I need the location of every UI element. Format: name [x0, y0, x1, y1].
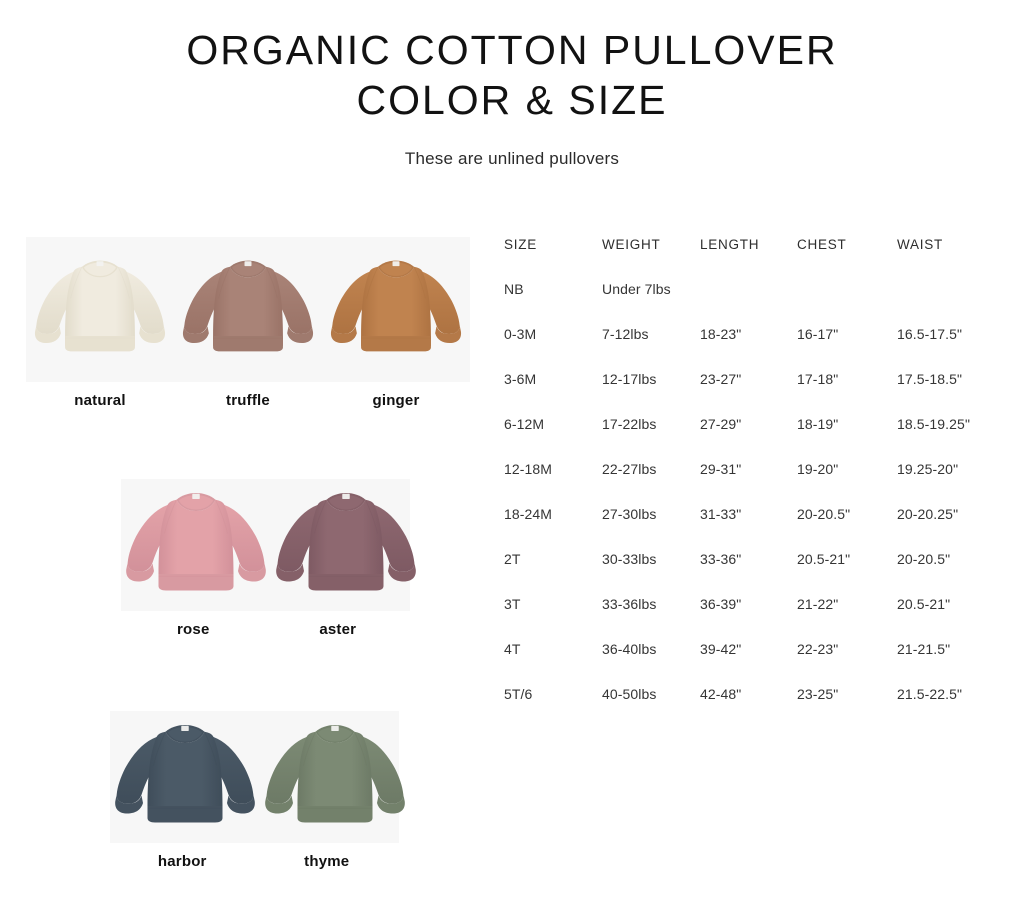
size-chart-cell: 20-20.5"	[797, 506, 897, 551]
garment-panel-row-3	[110, 711, 399, 843]
sweater-illustration	[110, 719, 260, 836]
table-row: 3-6M12-17lbs23-27"17-18"17.5-18.5"	[504, 371, 1004, 416]
size-chart-cell: 31-33"	[700, 506, 797, 551]
color-label-thyme: thyme	[255, 853, 400, 870]
garment-swatch-truffle[interactable]	[174, 237, 322, 382]
color-label-group-row-3: harborthyme	[110, 853, 399, 870]
page-title-line1: ORGANIC COTTON PULLOVER	[0, 26, 1024, 74]
size-chart-cell: 42-48"	[700, 686, 797, 731]
size-chart-cell: 17-22lbs	[602, 416, 700, 461]
size-chart-cell: 2T	[504, 551, 602, 596]
size-chart-header-waist: WAIST	[897, 237, 1004, 281]
size-chart-header-weight: WEIGHT	[602, 237, 700, 281]
size-chart-cell: 18-19"	[797, 416, 897, 461]
size-chart-cell: 40-50lbs	[602, 686, 700, 731]
table-row: 2T30-33lbs33-36"20.5-21"20-20.5"	[504, 551, 1004, 596]
size-chart-cell: 3T	[504, 596, 602, 641]
garment-swatch-rose[interactable]	[121, 479, 271, 611]
size-chart-table: SIZEWEIGHTLENGTHCHESTWAIST NBUnder 7lbs0…	[504, 237, 1004, 731]
size-chart-header-chest: CHEST	[797, 237, 897, 281]
size-chart-cell: 18-24M	[504, 506, 602, 551]
size-chart-cell	[700, 281, 797, 326]
size-chart-cell: 3-6M	[504, 371, 602, 416]
page-header: ORGANIC COTTON PULLOVER COLOR & SIZE The…	[0, 0, 1024, 169]
size-chart-cell: 12-18M	[504, 461, 602, 506]
size-chart-cell	[797, 281, 897, 326]
size-chart-cell: 12-17lbs	[602, 371, 700, 416]
color-label-group-row-1: naturaltruffleginger	[26, 392, 470, 409]
table-row: 5T/640-50lbs42-48"23-25"21.5-22.5"	[504, 686, 1004, 731]
garment-group-row-2	[121, 479, 410, 611]
color-label-harbor: harbor	[110, 853, 255, 870]
sweater-illustration	[326, 255, 466, 364]
size-chart-cell: 22-27lbs	[602, 461, 700, 506]
table-row: 0-3M7-12lbs18-23"16-17"16.5-17.5"	[504, 326, 1004, 371]
size-chart-header-length: LENGTH	[700, 237, 797, 281]
size-chart-cell: 23-25"	[797, 686, 897, 731]
size-chart-cell: 29-31"	[700, 461, 797, 506]
size-chart-cell: 33-36"	[700, 551, 797, 596]
garment-swatch-harbor[interactable]	[110, 711, 260, 843]
size-chart-cell: 27-30lbs	[602, 506, 700, 551]
size-chart-cell: 30-33lbs	[602, 551, 700, 596]
size-chart-cell: 5T/6	[504, 686, 602, 731]
size-chart-column: SIZEWEIGHTLENGTHCHESTWAIST NBUnder 7lbs0…	[500, 237, 1024, 731]
size-chart-cell: 20.5-21"	[897, 596, 1004, 641]
garment-swatch-aster[interactable]	[271, 479, 421, 611]
garment-panel-row-1	[26, 237, 470, 382]
color-label-group-row-2: roseaster	[121, 621, 410, 638]
table-row: 18-24M27-30lbs31-33"20-20.5"20-20.25"	[504, 506, 1004, 551]
table-row: NBUnder 7lbs	[504, 281, 1004, 326]
garment-swatch-thyme[interactable]	[260, 711, 410, 843]
color-label-rose: rose	[121, 621, 266, 638]
color-label-aster: aster	[266, 621, 411, 638]
size-chart-cell: 4T	[504, 641, 602, 686]
size-chart-cell: 36-39"	[700, 596, 797, 641]
table-row: 6-12M17-22lbs27-29"18-19"18.5-19.25"	[504, 416, 1004, 461]
color-label-ginger: ginger	[322, 392, 470, 409]
garment-panel-row-2	[121, 479, 410, 611]
size-chart-cell: NB	[504, 281, 602, 326]
sweater-illustration	[30, 255, 170, 364]
size-chart-cell: 21.5-22.5"	[897, 686, 1004, 731]
size-chart-cell: 36-40lbs	[602, 641, 700, 686]
size-chart-body: NBUnder 7lbs0-3M7-12lbs18-23"16-17"16.5-…	[504, 281, 1004, 731]
size-chart-cell: 7-12lbs	[602, 326, 700, 371]
size-chart-cell: 39-42"	[700, 641, 797, 686]
table-row: 12-18M22-27lbs29-31"19-20"19.25-20"	[504, 461, 1004, 506]
size-chart-cell: 18.5-19.25"	[897, 416, 1004, 461]
size-chart-cell: 19-20"	[797, 461, 897, 506]
color-swatch-column: naturaltruffleginger	[0, 237, 500, 870]
table-row: 3T33-36lbs36-39"21-22"20.5-21"	[504, 596, 1004, 641]
size-chart-cell: 23-27"	[700, 371, 797, 416]
size-chart-cell: 18-23"	[700, 326, 797, 371]
size-chart-cell: 21-22"	[797, 596, 897, 641]
color-label-truffle: truffle	[174, 392, 322, 409]
size-chart-cell: 20.5-21"	[797, 551, 897, 596]
garment-swatch-ginger[interactable]	[322, 237, 470, 382]
color-label-natural: natural	[26, 392, 174, 409]
size-chart-cell: 6-12M	[504, 416, 602, 461]
size-chart-cell: 20-20.5"	[897, 551, 1004, 596]
garment-group-row-1	[26, 237, 470, 382]
size-chart-cell: 19.25-20"	[897, 461, 1004, 506]
size-chart-cell: 22-23"	[797, 641, 897, 686]
size-chart-cell: 20-20.25"	[897, 506, 1004, 551]
sweater-illustration	[178, 255, 318, 364]
size-chart-cell: 16-17"	[797, 326, 897, 371]
size-chart-cell: 0-3M	[504, 326, 602, 371]
size-chart-cell: 21-21.5"	[897, 641, 1004, 686]
garment-group-row-3	[110, 711, 399, 843]
size-chart-cell	[897, 281, 1004, 326]
size-chart-cell: 17.5-18.5"	[897, 371, 1004, 416]
sweater-illustration	[260, 719, 410, 836]
page-subtitle: These are unlined pullovers	[0, 149, 1024, 169]
page-title-line2: COLOR & SIZE	[0, 74, 1024, 126]
size-chart-header-row: SIZEWEIGHTLENGTHCHESTWAIST	[504, 237, 1004, 281]
size-chart-cell: 27-29"	[700, 416, 797, 461]
size-chart-cell: Under 7lbs	[602, 281, 700, 326]
sweater-illustration	[121, 487, 271, 604]
table-row: 4T36-40lbs39-42"22-23"21-21.5"	[504, 641, 1004, 686]
sweater-illustration	[271, 487, 421, 604]
size-chart-cell: 33-36lbs	[602, 596, 700, 641]
size-chart-cell: 17-18"	[797, 371, 897, 416]
garment-swatch-natural[interactable]	[26, 237, 174, 382]
size-chart-cell: 16.5-17.5"	[897, 326, 1004, 371]
size-chart-header-size: SIZE	[504, 237, 602, 281]
